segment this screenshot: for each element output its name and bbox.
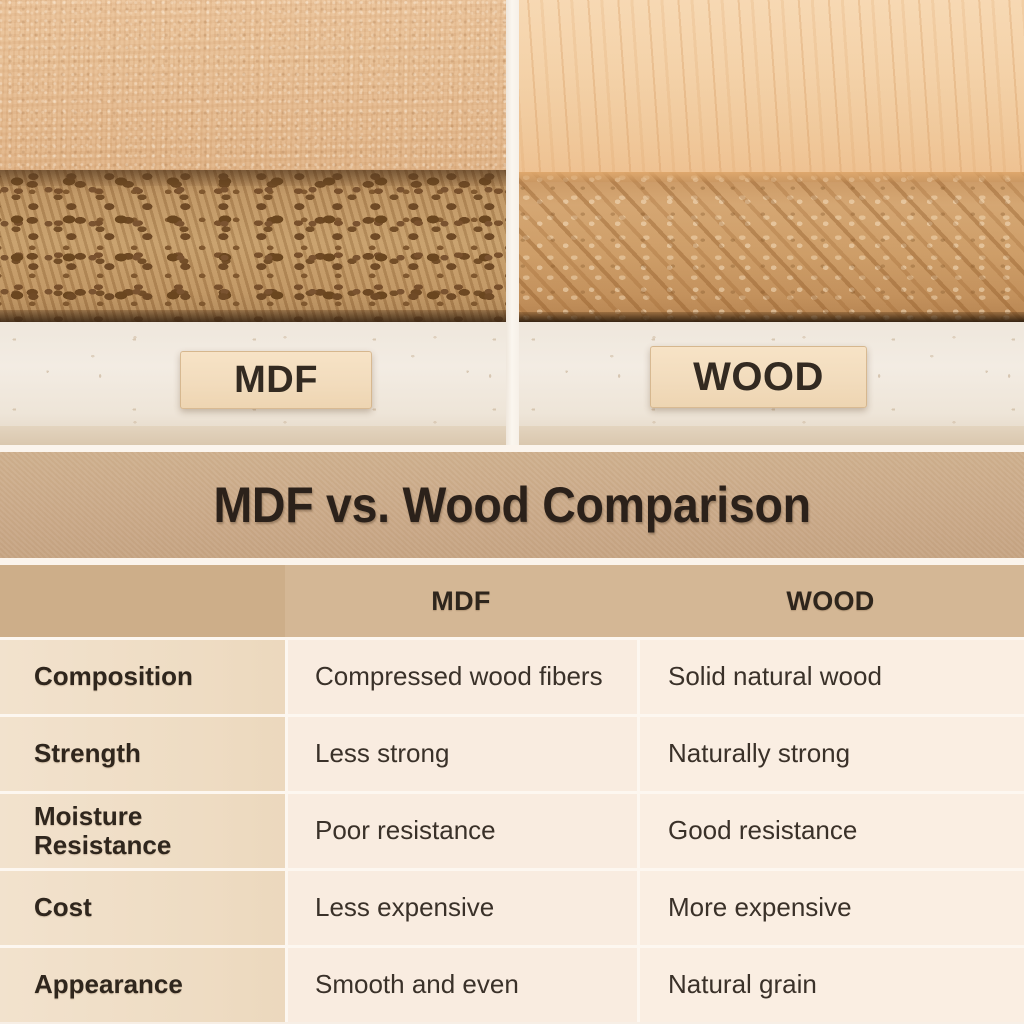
table-header-row: MDF WOOD xyxy=(0,565,1024,637)
row-mdf-cell: Smooth and even xyxy=(285,948,637,1022)
wood-board-top-face xyxy=(519,0,1024,172)
wood-photo-label-badge: WOOD xyxy=(650,346,867,408)
table-header: MDF WOOD xyxy=(0,565,1024,637)
row-wood-cell: More expensive xyxy=(637,871,1024,945)
row-mdf-cell: Less expensive xyxy=(285,871,637,945)
row-wood-cell: Naturally strong xyxy=(637,717,1024,791)
header-cell-mdf: MDF xyxy=(285,565,637,637)
mdf-photo-label-badge: MDF xyxy=(180,351,372,409)
comparison-table: MDF WOOD Composition Compressed wood fib… xyxy=(0,565,1024,1022)
row-wood-value: More expensive xyxy=(668,893,852,923)
header-wood-label: WOOD xyxy=(786,586,874,617)
wood-board-cut-edge xyxy=(519,172,1024,322)
row-mdf-cell: Less strong xyxy=(285,717,637,791)
row-attribute-label: Cost xyxy=(34,893,92,922)
row-attribute-label: Strength xyxy=(34,739,141,768)
wood-badge-text: WOOD xyxy=(693,355,824,400)
title-banner: MDF vs. Wood Comparison xyxy=(0,452,1024,558)
row-attribute-label: Appearance xyxy=(34,970,183,999)
row-wood-value: Good resistance xyxy=(668,816,857,846)
row-attribute-cell: Composition xyxy=(0,640,285,714)
mdf-board-cut-edge xyxy=(0,170,506,322)
row-mdf-value: Less expensive xyxy=(315,893,494,923)
table-row: Appearance Smooth and even Natural grain xyxy=(0,945,1024,1022)
mdf-badge-text: MDF xyxy=(234,359,318,402)
header-mdf-label: MDF xyxy=(431,586,490,617)
row-wood-value: Solid natural wood xyxy=(668,662,882,692)
header-cell-attribute xyxy=(0,565,285,637)
row-mdf-value: Compressed wood fibers xyxy=(315,662,603,692)
row-wood-cell: Natural grain xyxy=(637,948,1024,1022)
table-row: Composition Compressed wood fibers Solid… xyxy=(0,637,1024,714)
mdf-board-top-face xyxy=(0,0,506,170)
row-attribute-label: Moisture Resistance xyxy=(34,802,285,860)
row-mdf-value: Smooth and even xyxy=(315,970,519,1000)
row-mdf-cell: Compressed wood fibers xyxy=(285,640,637,714)
banner-top-gap xyxy=(0,445,1024,452)
banner-bottom-gap xyxy=(0,558,1024,565)
page-title: MDF vs. Wood Comparison xyxy=(213,476,810,534)
header-cell-wood: WOOD xyxy=(637,565,1024,637)
row-wood-value: Natural grain xyxy=(668,970,817,1000)
row-mdf-value: Poor resistance xyxy=(315,816,496,846)
row-attribute-cell: Moisture Resistance xyxy=(0,794,285,868)
table-row: Moisture Resistance Poor resistance Good… xyxy=(0,791,1024,868)
table-body: Composition Compressed wood fibers Solid… xyxy=(0,637,1024,1022)
row-mdf-cell: Poor resistance xyxy=(285,794,637,868)
infographic-page: MDF WOOD MDF vs. Wood Comparison MDF WOO… xyxy=(0,0,1024,1024)
row-mdf-value: Less strong xyxy=(315,739,449,769)
table-row: Strength Less strong Naturally strong xyxy=(0,714,1024,791)
photo-comparison-panel: MDF WOOD xyxy=(0,0,1024,452)
row-attribute-cell: Strength xyxy=(0,717,285,791)
row-wood-value: Naturally strong xyxy=(668,739,850,769)
row-attribute-label: Composition xyxy=(34,662,193,691)
row-attribute-cell: Cost xyxy=(0,871,285,945)
row-attribute-cell: Appearance xyxy=(0,948,285,1022)
photo-divider xyxy=(506,0,519,452)
row-wood-cell: Solid natural wood xyxy=(637,640,1024,714)
table-row: Cost Less expensive More expensive xyxy=(0,868,1024,945)
row-wood-cell: Good resistance xyxy=(637,794,1024,868)
